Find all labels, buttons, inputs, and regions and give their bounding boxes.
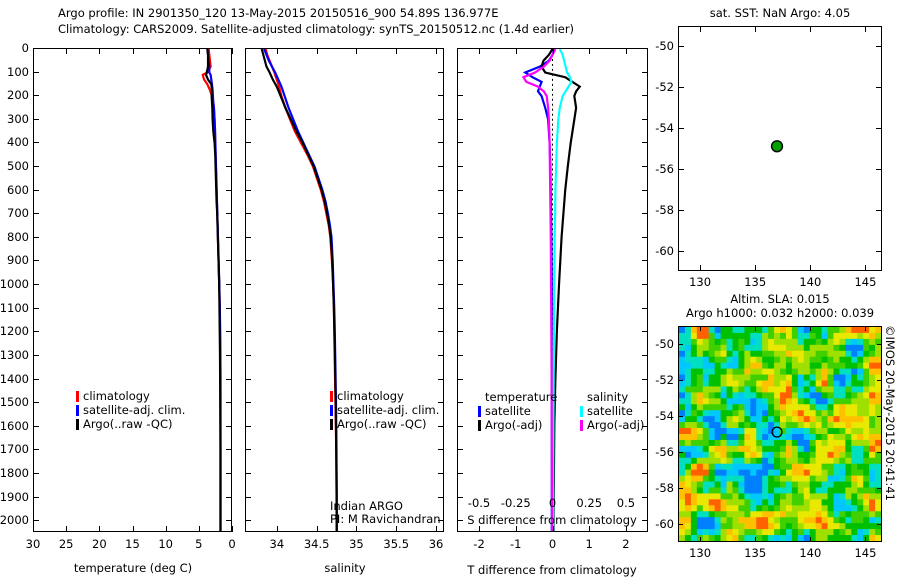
sla-cell [869, 404, 876, 411]
sla-cell [828, 392, 835, 399]
y-tick-mark [245, 497, 251, 498]
y-tick-mark [457, 308, 463, 309]
sla-cell [828, 404, 835, 411]
sla-cell [857, 458, 864, 465]
sla-cell [727, 339, 734, 346]
sla-cell [709, 339, 716, 346]
sla-cell [774, 535, 781, 541]
sla-cell [721, 446, 728, 453]
sla-cell [804, 493, 811, 500]
y-tick-mark [438, 402, 444, 403]
map-x-tick-mark [700, 265, 701, 271]
map-x-tick-mark [755, 537, 756, 542]
legend-header-label: temperature [485, 391, 557, 403]
sla-cell [744, 363, 751, 370]
sla-cell [869, 517, 876, 524]
sla-cell [715, 529, 722, 536]
sla-cell [679, 535, 686, 541]
sla-cell [715, 369, 722, 376]
difference-profile-plot[interactable] [457, 48, 648, 532]
y-tick-mark [642, 402, 648, 403]
y-tick-label: 1100 [0, 301, 29, 315]
sla-cell [875, 381, 881, 388]
sla-cell [703, 488, 710, 495]
x-tick-mark [133, 526, 134, 532]
sla-cell [679, 381, 686, 388]
y-tick-mark [226, 497, 232, 498]
sla-cell [715, 333, 722, 340]
sla-cell [828, 327, 835, 334]
sla-cell [816, 464, 823, 471]
sla-cell [780, 404, 787, 411]
sla-cell [721, 434, 728, 441]
y-tick-mark [226, 119, 232, 120]
sla-cell [833, 428, 840, 435]
sla-cell [744, 535, 751, 541]
sla-cell [828, 428, 835, 435]
sla-cell [709, 476, 716, 483]
sla-cell [845, 505, 852, 512]
salinity-profile-plot[interactable] [245, 48, 444, 532]
y-tick-label: 800 [0, 230, 29, 244]
sla-cell [738, 345, 745, 352]
sla-cell [869, 339, 876, 346]
sla-cell [833, 499, 840, 506]
sla-cell [845, 452, 852, 459]
y-tick-mark [642, 284, 648, 285]
x-tick-mark [66, 48, 67, 54]
sla-cell [679, 464, 686, 471]
sla-cell [833, 392, 840, 399]
sla-cell [863, 452, 870, 459]
argo-position-marker[interactable] [772, 141, 783, 152]
sla-cell [727, 375, 734, 382]
sla-cell [875, 363, 881, 370]
x-tick-mark [516, 526, 517, 532]
sla-cell [845, 392, 852, 399]
sla-cell [810, 410, 817, 417]
sla-cell [810, 482, 817, 489]
sla-cell [762, 369, 769, 376]
sla-cell [839, 381, 846, 388]
sla-cell [744, 357, 751, 364]
sla-cell [738, 410, 745, 417]
sla-cell [875, 422, 881, 429]
sla-cell [750, 517, 757, 524]
x-tick-mark-top [589, 48, 590, 54]
sla-cell [721, 351, 728, 358]
sla-cell [744, 404, 751, 411]
sla-cell [857, 523, 864, 530]
y-tick-mark [245, 95, 251, 96]
sla-cell [810, 511, 817, 518]
sla-cell [857, 476, 864, 483]
sla-cell [715, 440, 722, 447]
y-tick-mark [642, 119, 648, 120]
sla-cell [851, 428, 858, 435]
sla-cell [851, 452, 858, 459]
sla-cell [780, 327, 787, 334]
legend-item: climatology [76, 389, 185, 403]
y-tick-label: 200 [0, 88, 29, 102]
sla-cell [685, 369, 692, 376]
legend-item: Argo(..raw -QC) [76, 417, 185, 431]
sla-cell [744, 351, 751, 358]
legend-swatch-salinity-satellite [580, 406, 583, 417]
sla-cell [738, 339, 745, 346]
sla-cell [798, 381, 805, 388]
sla-cell [715, 404, 722, 411]
sla-cell [691, 339, 698, 346]
sla-cell [798, 345, 805, 352]
sla-cell [816, 446, 823, 453]
sla-cell [762, 529, 769, 536]
sla-cell [780, 357, 787, 364]
sla-cell [857, 351, 864, 358]
sla-cell [863, 339, 870, 346]
sla-cell [774, 386, 781, 393]
y-tick-mark [438, 379, 444, 380]
sla-cell [780, 517, 787, 524]
sla-cell [833, 357, 840, 364]
legend-swatch-satellite-adj-clim [330, 405, 333, 416]
sla-cell [768, 470, 775, 477]
sla-cell [804, 470, 811, 477]
y-tick-mark [245, 213, 251, 214]
legend-item: satellite [580, 404, 644, 418]
sla-cell [697, 499, 704, 506]
sla-cell [738, 488, 745, 495]
sla-cell [786, 428, 793, 435]
sla-cell [685, 381, 692, 388]
sla-cell [822, 404, 829, 411]
x-tick-mark [133, 48, 134, 54]
sla-cell [732, 452, 739, 459]
sla-cell [780, 333, 787, 340]
sla-cell [727, 535, 734, 541]
sla-cell [869, 327, 876, 334]
map-y-tick-mark [876, 46, 882, 47]
sla-cell [756, 464, 763, 471]
sla-cell [875, 470, 881, 477]
sla-cell [679, 517, 686, 524]
temperature-profile-plot[interactable] [33, 48, 232, 532]
sla-cell [833, 416, 840, 423]
sla-cell [721, 381, 728, 388]
sla-cell [697, 482, 704, 489]
sla-cell [727, 428, 734, 435]
sla-cell [709, 351, 716, 358]
sla-map[interactable] [678, 326, 882, 542]
map-y-tick-mark [877, 416, 882, 417]
figure-title-line1: Argo profile: IN 2901350_120 13-May-2015… [58, 6, 498, 20]
sla-cell [845, 351, 852, 358]
sla-cell [727, 410, 734, 417]
sla-cell [732, 398, 739, 405]
sla-cell [851, 375, 858, 382]
sla-cell [756, 363, 763, 370]
difference-profile-curves [458, 49, 647, 531]
sla-cell [804, 422, 811, 429]
sla-cell [839, 386, 846, 393]
sla-cell [863, 357, 870, 364]
sla-cell [732, 482, 739, 489]
sla-cell [857, 482, 864, 489]
sla-cell [851, 327, 858, 334]
sla-cell [756, 446, 763, 453]
x-tick-mark [396, 526, 397, 532]
sla-cell [697, 363, 704, 370]
sla-cell [744, 482, 751, 489]
sla-cell [679, 505, 686, 512]
sla-cell [857, 464, 864, 471]
sla-cell [810, 386, 817, 393]
sla-cell [786, 351, 793, 358]
sla-cell [786, 446, 793, 453]
sla-cell [828, 476, 835, 483]
y-tick-mark [245, 48, 251, 49]
sla-cell [762, 357, 769, 364]
sla-cell [816, 327, 823, 334]
sla-cell [703, 333, 710, 340]
sla-cell [816, 482, 823, 489]
y-tick-mark [438, 497, 444, 498]
sla-cell [828, 369, 835, 376]
sla-cell [774, 333, 781, 340]
sla-cell [857, 505, 864, 512]
y-tick-mark [245, 284, 251, 285]
sla-cell [828, 375, 835, 382]
sla-cell [727, 440, 734, 447]
sla-cell [798, 333, 805, 340]
sla-cell [798, 523, 805, 530]
sla-cell [774, 410, 781, 417]
sla-cell [804, 499, 811, 506]
sla-cell [709, 434, 716, 441]
sla-cell [762, 398, 769, 405]
sla-cell [744, 499, 751, 506]
sla-cell [768, 392, 775, 399]
sla-cell [839, 458, 846, 465]
sla-cell [762, 327, 769, 334]
sla-cell [762, 386, 769, 393]
sla-cell [715, 363, 722, 370]
sla-cell [786, 452, 793, 459]
y-tick-mark [457, 331, 463, 332]
sla-cell [727, 464, 734, 471]
sla-cell [839, 446, 846, 453]
y-tick-mark [438, 520, 444, 521]
sla-cell [697, 416, 704, 423]
sla-cell [869, 499, 876, 506]
sla-cell [732, 535, 739, 541]
sla-cell [691, 488, 698, 495]
difference-line-salinity-satellite [553, 49, 571, 531]
y-tick-mark [642, 190, 648, 191]
y-tick-mark [226, 355, 232, 356]
sla-cell [822, 446, 829, 453]
sla-cell [828, 517, 835, 524]
sla-cell [816, 422, 823, 429]
sla-cell [768, 505, 775, 512]
sla-cell [822, 410, 829, 417]
sla-cell [857, 345, 864, 352]
y-tick-mark [438, 237, 444, 238]
legend-item: Argo(..raw -QC) [330, 417, 439, 431]
sla-cell [875, 499, 881, 506]
sla-cell [685, 488, 692, 495]
sla-cell [839, 339, 846, 346]
y-tick-label: 500 [0, 159, 29, 173]
y-tick-label: 1300 [0, 348, 29, 362]
sla-cell [845, 488, 852, 495]
sla-cell [833, 381, 840, 388]
sla-cell [750, 470, 757, 477]
sla-cell [786, 493, 793, 500]
y-tick-mark [457, 72, 463, 73]
sla-cell [697, 351, 704, 358]
sla-cell [828, 464, 835, 471]
x-tick-mark [553, 526, 554, 532]
y-tick-mark [438, 355, 444, 356]
sla-cell [810, 363, 817, 370]
y-tick-mark [245, 308, 251, 309]
sla-cell [822, 345, 829, 352]
sla-cell [715, 416, 722, 423]
sla-cell [721, 499, 728, 506]
sla-cell [685, 505, 692, 512]
sla-cell [727, 333, 734, 340]
sla-cell [732, 476, 739, 483]
sla-cell [691, 404, 698, 411]
sla-cell [869, 482, 876, 489]
sla-cell [816, 511, 823, 518]
sla-cell [851, 398, 858, 405]
y-tick-mark [33, 237, 39, 238]
sla-cell [792, 416, 799, 423]
x-tick-mark [317, 526, 318, 532]
sla-cell [679, 529, 686, 536]
x-tick-label: 35.5 [376, 537, 416, 551]
sla-cell [750, 482, 757, 489]
y-tick-mark [642, 355, 648, 356]
sla-cell [703, 523, 710, 530]
sla-cell [738, 499, 745, 506]
sla-cell [851, 488, 858, 495]
sla-cell [869, 333, 876, 340]
sla-cell [703, 458, 710, 465]
sla-cell [721, 404, 728, 411]
sst-map-title: sat. SST: NaN Argo: 4.05 [678, 6, 882, 20]
sla-cell [691, 416, 698, 423]
sla-cell [703, 339, 710, 346]
sla-cell [786, 482, 793, 489]
sla-cell [691, 428, 698, 435]
sla-cell [697, 440, 704, 447]
sla-cell [685, 386, 692, 393]
sla-cell [839, 470, 846, 477]
sla-cell [845, 476, 852, 483]
sla-cell [792, 434, 799, 441]
sla-cell [798, 357, 805, 364]
sla-cell [804, 434, 811, 441]
y-tick-mark [642, 142, 648, 143]
sla-cell [762, 446, 769, 453]
y-tick-mark [642, 331, 648, 332]
sla-cell [828, 422, 835, 429]
y-tick-mark [33, 166, 39, 167]
sla-cell [816, 505, 823, 512]
sla-cell [780, 345, 787, 352]
sla-cell [845, 535, 852, 541]
sla-cell [798, 517, 805, 524]
sla-cell [750, 458, 757, 465]
sla-cell [703, 345, 710, 352]
sla-cell [756, 345, 763, 352]
sla-cell [679, 493, 686, 500]
sla-cell [750, 351, 757, 358]
sla-cell [691, 517, 698, 524]
sla-cell [792, 511, 799, 518]
sla-cell [822, 416, 829, 423]
sla-cell [709, 499, 716, 506]
sla-cell [762, 416, 769, 423]
sla-cell [839, 464, 846, 471]
sla-cell [774, 464, 781, 471]
sla-cell [727, 357, 734, 364]
sla-cell [845, 333, 852, 340]
sla-cell [703, 357, 710, 364]
sla-cell [732, 434, 739, 441]
sla-cell [756, 369, 763, 376]
sla-cell [727, 493, 734, 500]
sla-cell [851, 505, 858, 512]
sla-cell [756, 327, 763, 334]
sla-cell [750, 392, 757, 399]
y-tick-mark [245, 426, 251, 427]
sla-cell [792, 428, 799, 435]
y-tick-mark [33, 308, 39, 309]
sla-cell [863, 392, 870, 399]
y-tick-mark [33, 379, 39, 380]
sla-cell [833, 452, 840, 459]
sla-cell [786, 488, 793, 495]
sla-cell [756, 482, 763, 489]
sla-cell [804, 488, 811, 495]
sla-cell [828, 381, 835, 388]
sla-cell [839, 482, 846, 489]
sla-cell [810, 464, 817, 471]
y-tick-label: 1600 [0, 419, 29, 433]
y-tick-mark [457, 260, 463, 261]
sst-map[interactable] [678, 26, 882, 271]
sla-cell [697, 369, 704, 376]
sla-cell [691, 398, 698, 405]
sla-cell [715, 458, 722, 465]
sla-cell [768, 416, 775, 423]
difference-x-axis-label-bottom: T difference from climatology [467, 563, 636, 577]
sla-cell [721, 493, 728, 500]
sla-cell [845, 428, 852, 435]
sla-cell [857, 428, 864, 435]
sla-cell [679, 499, 686, 506]
sla-cell [875, 535, 881, 541]
sla-cell [756, 404, 763, 411]
sla-cell [833, 535, 840, 541]
sla-cell [762, 458, 769, 465]
sla-cell [768, 523, 775, 530]
map-y-tick-label: -50 [648, 337, 674, 351]
